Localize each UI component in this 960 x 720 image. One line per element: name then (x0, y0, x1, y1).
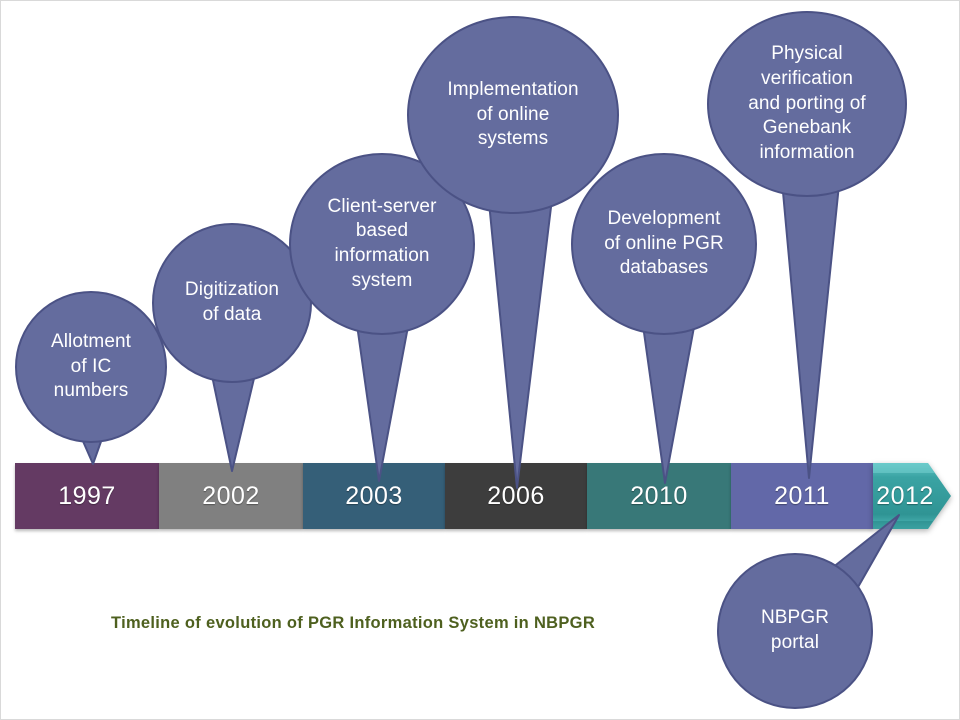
diagram-caption: Timeline of evolution of PGR Information… (111, 614, 595, 633)
callout-bubble: Allotment of IC numbers (15, 291, 167, 443)
callout-2011[interactable]: Physical verification and porting of Gen… (707, 11, 907, 197)
timeline-segment-label: 1997 (58, 482, 116, 511)
callout-2002[interactable]: Digitization of data (152, 223, 312, 383)
timeline-segment-1997[interactable]: 1997 (15, 463, 159, 529)
timeline-segment-label: 2011 (774, 482, 830, 511)
callout-bubble: NBPGR portal (717, 553, 873, 709)
callout-bubble: Physical verification and porting of Gen… (707, 11, 907, 197)
timeline-segment-label: 2002 (202, 482, 260, 511)
callout-1997[interactable]: Allotment of IC numbers (15, 291, 167, 443)
callout-text: Physical verification and porting of Gen… (738, 42, 876, 165)
callout-2012[interactable]: NBPGR portal (717, 553, 873, 709)
timeline-diagram: 1997 2002 2003 2006 2010 2011 (0, 0, 960, 720)
callout-text: NBPGR portal (751, 606, 839, 655)
callout-text: Development of online PGR databases (594, 207, 734, 281)
callout-text: Allotment of IC numbers (41, 330, 141, 404)
callout-text: Implementation of online systems (437, 78, 588, 152)
timeline-segment-label: 2003 (345, 482, 403, 511)
timeline-segment-label: 2010 (630, 482, 688, 511)
callout-text: Digitization of data (175, 278, 289, 327)
callout-bubble: Digitization of data (152, 223, 312, 383)
